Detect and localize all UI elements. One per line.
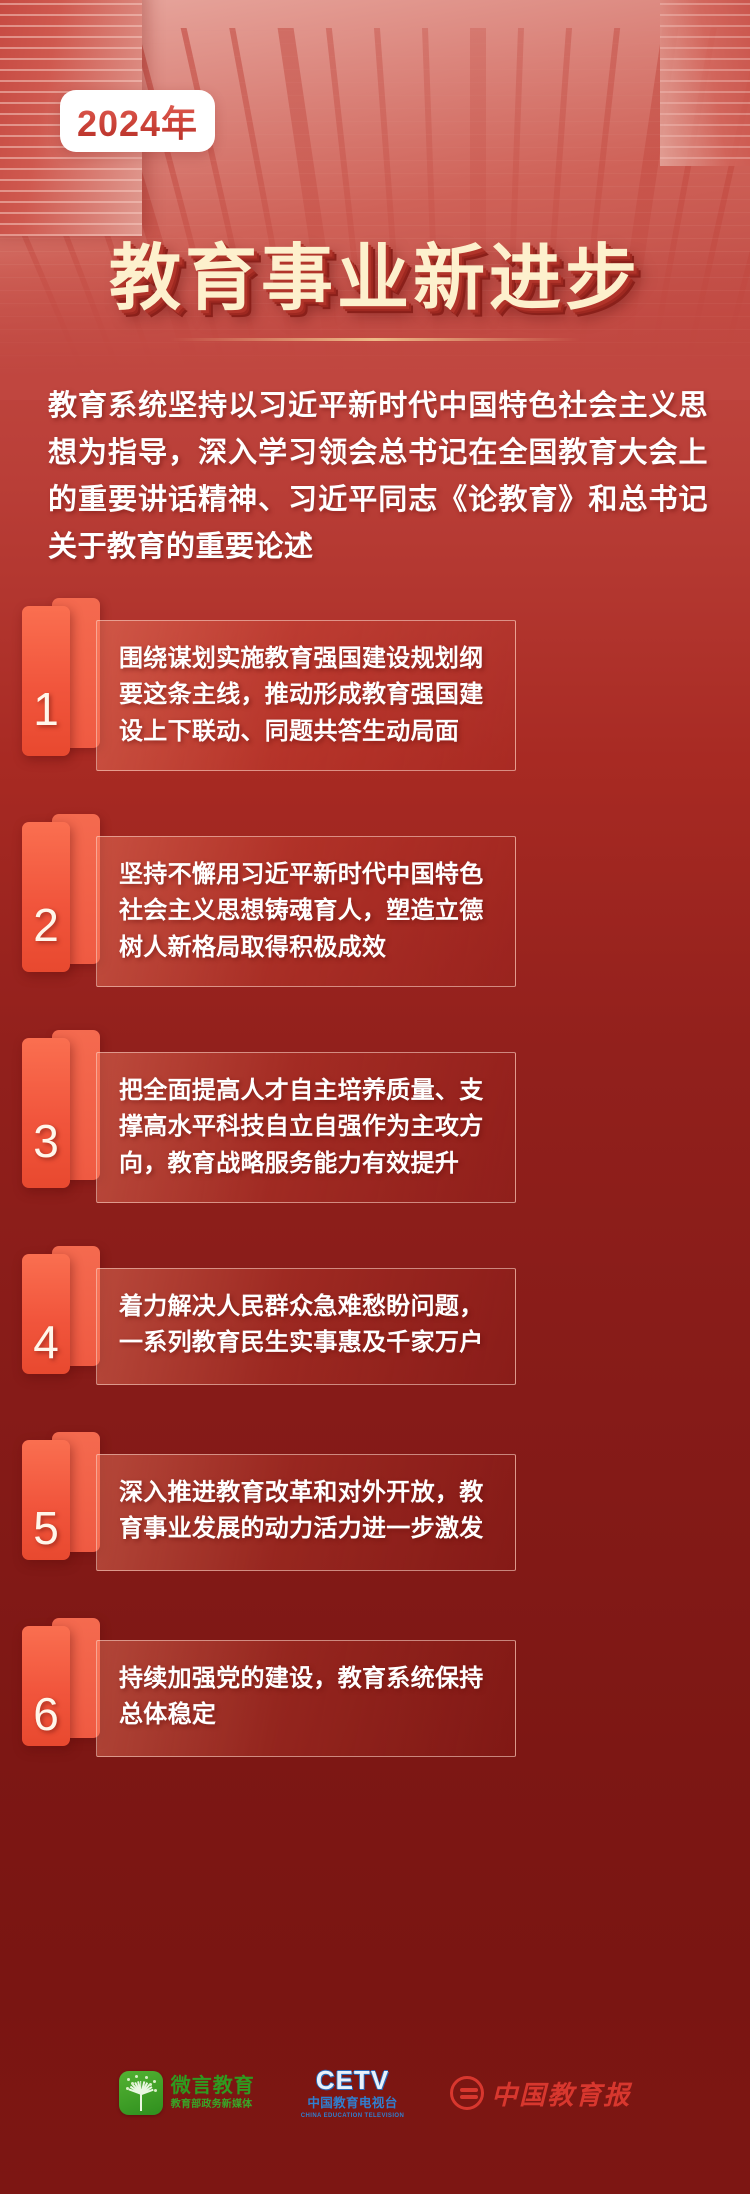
item-number-plate-front: 4 bbox=[22, 1254, 70, 1374]
item-number-plate-front: 3 bbox=[22, 1038, 70, 1188]
list-item: 1围绕谋划实施教育强国建设规划纲要这条主线，推动形成教育强国建设上下联动、同题共… bbox=[0, 598, 750, 794]
footer-logos: 微言教育 教育部政务新媒体 CETV 中国教育电视台 CHINA EDUCATI… bbox=[0, 2058, 750, 2128]
item-text: 深入推进教育改革和对外开放，教育事业发展的动力活力进一步激发 bbox=[119, 1475, 497, 1548]
item-number-plate: 1 bbox=[22, 598, 100, 768]
item-card: 把全面提高人才自主培养质量、支撑高水平科技自立自强作为主攻方向，教育战略服务能力… bbox=[96, 1052, 516, 1203]
item-card: 围绕谋划实施教育强国建设规划纲要这条主线，推动形成教育强国建设上下联动、同题共答… bbox=[96, 620, 516, 771]
item-card: 深入推进教育改革和对外开放，教育事业发展的动力活力进一步激发 bbox=[96, 1454, 516, 1571]
item-number-plate: 6 bbox=[22, 1618, 100, 1758]
item-text: 把全面提高人才自主培养质量、支撑高水平科技自立自强作为主攻方向，教育战略服务能力… bbox=[119, 1073, 497, 1182]
item-text: 着力解决人民群众急难愁盼问题，一系列教育民生实事惠及千家万户 bbox=[119, 1289, 497, 1362]
item-card: 坚持不懈用习近平新时代中国特色社会主义思想铸魂育人，塑造立德树人新格局取得积极成… bbox=[96, 836, 516, 987]
title-underline bbox=[170, 338, 580, 341]
year-badge-label: 2024年 bbox=[77, 95, 198, 147]
item-number: 6 bbox=[33, 1691, 59, 1737]
list-item: 3把全面提高人才自主培养质量、支撑高水平科技自立自强作为主攻方向，教育战略服务能… bbox=[0, 1030, 750, 1226]
logo-weiyan-jiaoyu: 微言教育 教育部政务新媒体 bbox=[119, 2071, 255, 2115]
item-number: 5 bbox=[33, 1505, 59, 1551]
list-item: 4着力解决人民群众急难愁盼问题，一系列教育民生实事惠及千家万户 bbox=[0, 1246, 750, 1412]
points-list: 1围绕谋划实施教育强国建设规划纲要这条主线，推动形成教育强国建设上下联动、同题共… bbox=[0, 598, 750, 1804]
item-text: 坚持不懈用习近平新时代中国特色社会主义思想铸魂育人，塑造立德树人新格局取得积极成… bbox=[119, 857, 497, 966]
item-number: 3 bbox=[33, 1118, 59, 1164]
item-number-plate: 4 bbox=[22, 1246, 100, 1386]
logo-zhongguo-jiaoyu-bao: 中国教育报 bbox=[450, 2075, 631, 2112]
infographic-page: 2024年 教育事业新进步 教育系统坚持以习近平新时代中国特色社会主义思想为指导… bbox=[0, 0, 750, 2194]
item-number: 4 bbox=[33, 1319, 59, 1365]
item-card: 着力解决人民群众急难愁盼问题，一系列教育民生实事惠及千家万户 bbox=[96, 1268, 516, 1385]
list-item: 6持续加强党的建设，教育系统保持总体稳定 bbox=[0, 1618, 750, 1784]
intro-paragraph: 教育系统坚持以习近平新时代中国特色社会主义思想为指导，深入学习领会总书记在全国教… bbox=[48, 383, 708, 571]
item-number-plate-front: 1 bbox=[22, 606, 70, 756]
item-number-plate-front: 6 bbox=[22, 1626, 70, 1746]
logo-jiaoyubao-title: 中国教育报 bbox=[491, 2075, 631, 2112]
logo-weiyan-title: 微言教育 bbox=[171, 2076, 255, 2096]
swoosh-icon bbox=[450, 2076, 484, 2110]
item-text: 持续加强党的建设，教育系统保持总体稳定 bbox=[119, 1661, 497, 1734]
logo-cetv-title: CETV bbox=[301, 2067, 404, 2093]
dandelion-icon bbox=[119, 2071, 163, 2115]
item-number-plate: 3 bbox=[22, 1030, 100, 1200]
item-number-plate: 5 bbox=[22, 1432, 100, 1572]
item-text: 围绕谋划实施教育强国建设规划纲要这条主线，推动形成教育强国建设上下联动、同题共答… bbox=[119, 641, 497, 750]
logo-cetv-subtitle: 中国教育电视台 bbox=[301, 2097, 404, 2110]
item-number-plate-front: 5 bbox=[22, 1440, 70, 1560]
list-item: 2坚持不懈用习近平新时代中国特色社会主义思想铸魂育人，塑造立德树人新格局取得积极… bbox=[0, 814, 750, 1010]
item-card: 持续加强党的建设，教育系统保持总体稳定 bbox=[96, 1640, 516, 1757]
item-number-plate-front: 2 bbox=[22, 822, 70, 972]
logo-cetv-subtitle-en: CHINA EDUCATION TELEVISION bbox=[301, 2113, 404, 2119]
item-number: 1 bbox=[33, 686, 59, 732]
page-title: 教育事业新进步 bbox=[0, 243, 750, 315]
logo-weiyan-subtitle: 教育部政务新媒体 bbox=[171, 2100, 255, 2110]
list-item: 5深入推进教育改革和对外开放，教育事业发展的动力活力进一步激发 bbox=[0, 1432, 750, 1598]
item-number-plate: 2 bbox=[22, 814, 100, 984]
year-badge: 2024年 bbox=[60, 90, 215, 152]
hero-right-building bbox=[660, 0, 750, 166]
item-number: 2 bbox=[33, 902, 59, 948]
logo-cetv: CETV 中国教育电视台 CHINA EDUCATION TELEVISION bbox=[301, 2067, 404, 2119]
